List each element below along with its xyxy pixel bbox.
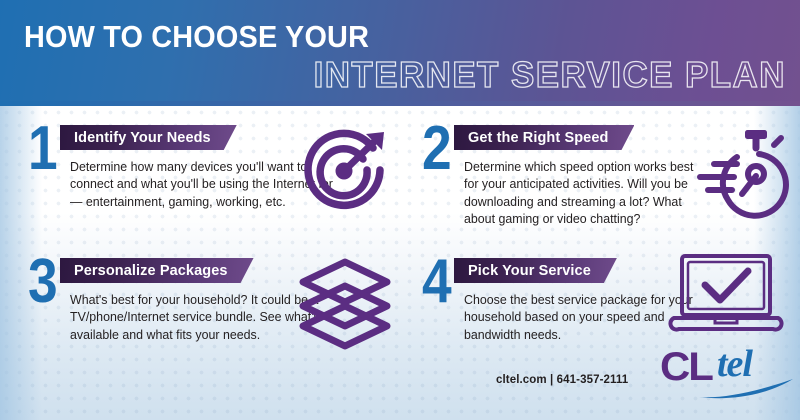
step-1-heading-label: Identify Your Needs	[74, 130, 211, 146]
laptop-check-icon	[668, 252, 784, 343]
step-4-body-text: Choose the best service package for your…	[464, 291, 694, 343]
stopwatch-speed-icon	[682, 124, 792, 225]
step-2-body-text: Determine which speed option works best …	[464, 158, 699, 228]
cltel-logo: CL tel	[655, 345, 795, 401]
page-title-line1: HOW TO CHOOSE YOUR	[24, 19, 369, 55]
step-4-heading-banner: Pick Your Service	[454, 258, 617, 283]
logo-swoosh-icon	[697, 377, 795, 401]
step-1-body-text: Determine how many devices you'll want t…	[70, 158, 333, 210]
step-4-heading-label: Pick Your Service	[468, 263, 591, 279]
header-banner: HOW TO CHOOSE YOUR INTERNET SERVICE PLAN	[0, 0, 800, 106]
step-2-number: 2	[422, 122, 452, 176]
step-3-number: 3	[28, 255, 58, 309]
step-3-heading-label: Personalize Packages	[74, 263, 228, 279]
stacked-layers-icon	[295, 256, 395, 357]
step-1-number: 1	[28, 122, 58, 176]
infographic-poster: HOW TO CHOOSE YOUR INTERNET SERVICE PLAN…	[0, 0, 800, 420]
step-3-heading-banner: Personalize Packages	[60, 258, 254, 283]
step-2-heading-label: Get the Right Speed	[468, 130, 608, 146]
step-1-heading-banner: Identify Your Needs	[60, 125, 237, 150]
footer-contact: cltel.com | 641-357-2111	[496, 374, 628, 386]
step-4-number: 4	[422, 255, 452, 309]
target-arrow-icon	[300, 126, 392, 223]
step-2-heading-banner: Get the Right Speed	[454, 125, 634, 150]
step-3-body-text: What's best for your household? It could…	[70, 291, 324, 343]
page-title-line2: INTERNET SERVICE PLAN	[314, 54, 786, 96]
